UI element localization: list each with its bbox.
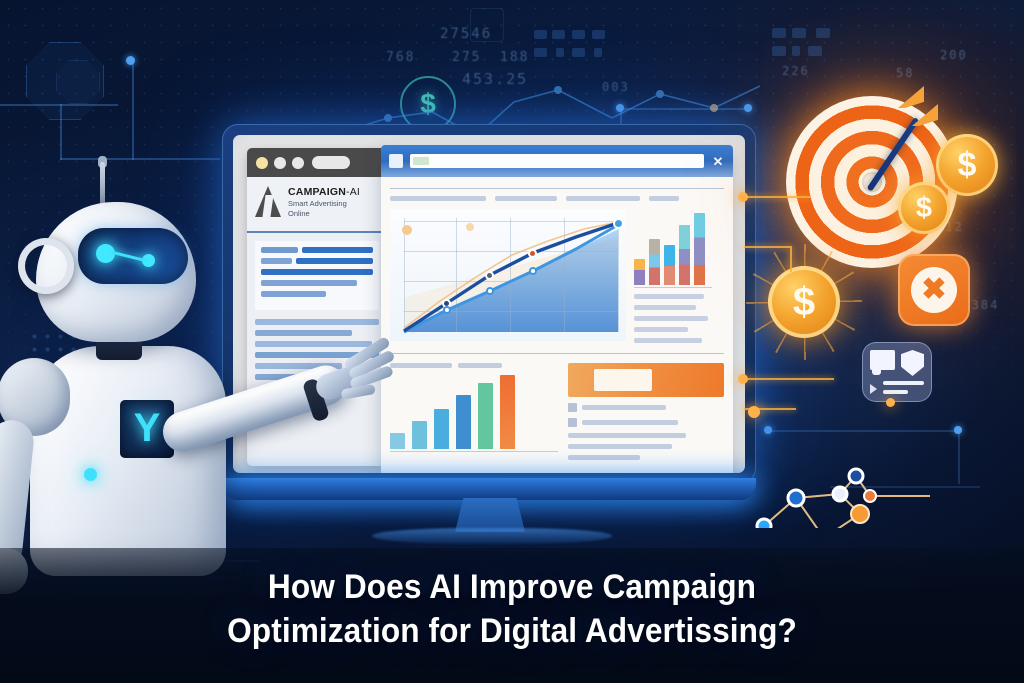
chip-block xyxy=(792,46,800,56)
app-toolbar[interactable]: ✕ xyxy=(381,145,733,177)
chip-block xyxy=(792,28,806,38)
list-item xyxy=(568,433,724,438)
bar[interactable] xyxy=(694,213,705,285)
bar[interactable] xyxy=(478,383,493,449)
chip-block xyxy=(772,28,786,38)
glow-wire xyxy=(744,196,810,198)
bg-number: 58 xyxy=(896,66,914,80)
data-point[interactable] xyxy=(613,218,624,229)
axis-line xyxy=(634,287,712,288)
data-point[interactable] xyxy=(529,267,537,275)
list-item xyxy=(568,444,724,449)
lower-row xyxy=(390,363,724,460)
promo-column xyxy=(568,363,724,460)
glow-wire xyxy=(744,378,834,380)
side-stacked-bars[interactable] xyxy=(634,209,712,343)
glow-wire xyxy=(790,246,792,272)
data-point[interactable] xyxy=(486,287,494,295)
list-bullet xyxy=(568,418,577,427)
chip-block xyxy=(572,48,585,57)
search-chip xyxy=(413,157,429,165)
monitor-stand xyxy=(455,498,525,532)
chip-block xyxy=(808,46,822,56)
headline-line-2: Optimization for Digital Advertissing? xyxy=(36,610,988,654)
list-item xyxy=(568,418,724,427)
circuit-node xyxy=(954,426,962,434)
app-body xyxy=(381,177,733,473)
analytics-app-panel[interactable]: ✕ xyxy=(381,145,733,473)
circuit-trace xyxy=(132,60,134,160)
page-title: How Does AI Improve Campaign Optimizatio… xyxy=(36,566,988,653)
data-point[interactable] xyxy=(485,271,494,280)
data-point[interactable] xyxy=(443,306,451,314)
chip-block xyxy=(556,48,564,57)
dollar-coin-icon: $ xyxy=(898,182,950,234)
legend-line xyxy=(634,316,708,321)
search-input[interactable] xyxy=(410,154,704,168)
list-item xyxy=(568,455,724,460)
browser-tab-pill[interactable] xyxy=(312,156,350,169)
bar[interactable] xyxy=(412,421,427,449)
cross-glyph: ✖ xyxy=(911,267,957,313)
poster-canvas: 27546 768 275 188 453.25 003 200 58 226 … xyxy=(0,0,1024,683)
legend-line xyxy=(634,338,702,343)
chip-block xyxy=(534,48,547,57)
legend-line xyxy=(634,294,704,299)
chip-block xyxy=(552,30,565,39)
axis-line xyxy=(390,451,558,452)
meta-row xyxy=(390,196,724,201)
chat-bubble-icon xyxy=(870,350,895,370)
legend-line xyxy=(634,305,696,310)
bar[interactable] xyxy=(634,259,645,285)
list-bullet xyxy=(568,403,577,412)
divider xyxy=(390,188,724,189)
bar[interactable] xyxy=(679,225,690,285)
channel-performance-bars[interactable] xyxy=(390,363,558,460)
performance-line-chart[interactable] xyxy=(390,209,626,341)
robot-visor xyxy=(78,228,188,284)
bar[interactable] xyxy=(390,433,405,449)
chart-row xyxy=(390,209,724,343)
bookmark-icon[interactable] xyxy=(389,154,403,168)
chip-block xyxy=(572,30,585,39)
circuit-trace xyxy=(958,430,960,484)
close-icon[interactable]: ✕ xyxy=(711,155,725,168)
chip-block xyxy=(816,28,830,38)
circuit-node xyxy=(126,56,135,65)
chest-emblem: Y xyxy=(130,408,164,448)
glow-wire xyxy=(744,246,790,248)
network-constellation xyxy=(744,398,934,528)
monitor-base xyxy=(372,528,612,544)
data-point[interactable] xyxy=(528,249,537,258)
shield-icon xyxy=(901,350,924,376)
circuit-trace xyxy=(0,104,118,106)
bg-number: 226 xyxy=(782,64,810,78)
bar[interactable] xyxy=(434,409,449,449)
robot-ear-module xyxy=(18,238,74,294)
chip-block xyxy=(592,30,605,39)
eye-link-line xyxy=(111,251,147,263)
headline-line-1: How Does AI Improve Campaign xyxy=(36,566,988,610)
chip-block xyxy=(534,30,547,39)
list-item xyxy=(568,403,724,412)
bar[interactable] xyxy=(664,245,675,285)
bar[interactable] xyxy=(500,375,515,449)
legend-line xyxy=(634,327,688,332)
bg-number: 200 xyxy=(940,48,968,62)
glow-point xyxy=(738,374,748,384)
play-icon xyxy=(870,384,877,394)
promo-card xyxy=(594,369,652,391)
monitor-screen: CAMPAIGN-AI Smart Advertising Online xyxy=(233,135,745,473)
brand-name-thin: -AI xyxy=(346,186,360,198)
bg-number: 27546 xyxy=(440,26,492,42)
bar[interactable] xyxy=(456,395,471,449)
chip-block xyxy=(772,46,786,56)
dollar-coin-icon: $ xyxy=(768,266,840,338)
divider xyxy=(390,353,724,354)
forecast-point[interactable] xyxy=(402,225,412,235)
chest-indicator-light xyxy=(84,468,97,481)
dollar-coin-icon: $ xyxy=(936,134,998,196)
chat-shield-card-icon xyxy=(862,342,932,402)
cross-mark-icon: ✖ xyxy=(898,254,970,326)
promo-banner[interactable] xyxy=(568,363,724,397)
forecast-point[interactable] xyxy=(466,223,474,231)
chip-block xyxy=(594,48,602,57)
line-series-svg xyxy=(390,209,626,341)
glow-point xyxy=(738,192,748,202)
bar[interactable] xyxy=(649,239,660,285)
